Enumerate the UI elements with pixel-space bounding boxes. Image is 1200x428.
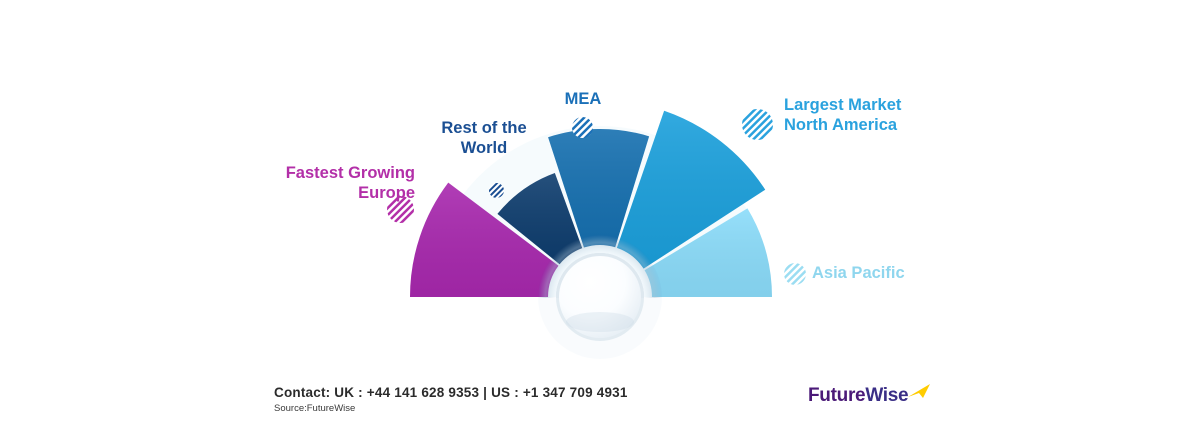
label-rest-of-world-line1: Rest of the xyxy=(410,118,558,138)
regional-rose-chart xyxy=(0,0,1200,428)
striped-circle-icon-north-america xyxy=(742,109,773,140)
striped-circle-icon-mea xyxy=(572,117,593,138)
striped-circle-icon-rest-of-world xyxy=(489,183,504,198)
contact-line: Contact: UK : +44 141 628 9353 | US : +1… xyxy=(274,385,628,400)
label-asia-pacific: Asia Pacific xyxy=(812,263,905,283)
logo-wordmark: FutureWise xyxy=(808,385,908,407)
swoosh-icon xyxy=(907,383,931,403)
label-europe-line2: Europe xyxy=(255,183,415,203)
label-europe-line1: Fastest Growing xyxy=(255,163,415,183)
label-rest-of-world-line2: World xyxy=(410,138,558,158)
label-mea: MEA xyxy=(536,89,630,109)
label-north-america: Largest Market North America xyxy=(784,95,930,135)
label-rest-of-world: Rest of the World xyxy=(410,118,558,158)
label-mea-line1: MEA xyxy=(536,89,630,109)
footer: Contact: UK : +44 141 628 9353 | US : +1… xyxy=(274,385,628,414)
logo-word-part2: Wise xyxy=(865,385,908,406)
label-europe: Fastest Growing Europe xyxy=(255,163,415,203)
infographic-canvas: Fastest Growing Europe Rest of the World… xyxy=(0,0,1200,428)
logo-word-part1: Future xyxy=(808,385,865,406)
label-asia-pacific-line1: Asia Pacific xyxy=(812,263,905,283)
futurewise-logo: FutureWise xyxy=(808,383,928,417)
striped-circle-icon-asia-pacific xyxy=(784,263,806,285)
source-line: Source:FutureWise xyxy=(274,403,628,414)
label-north-america-line1: Largest Market xyxy=(784,95,930,115)
label-north-america-line2: North America xyxy=(784,115,930,135)
hub-drop-shadow xyxy=(566,312,634,332)
